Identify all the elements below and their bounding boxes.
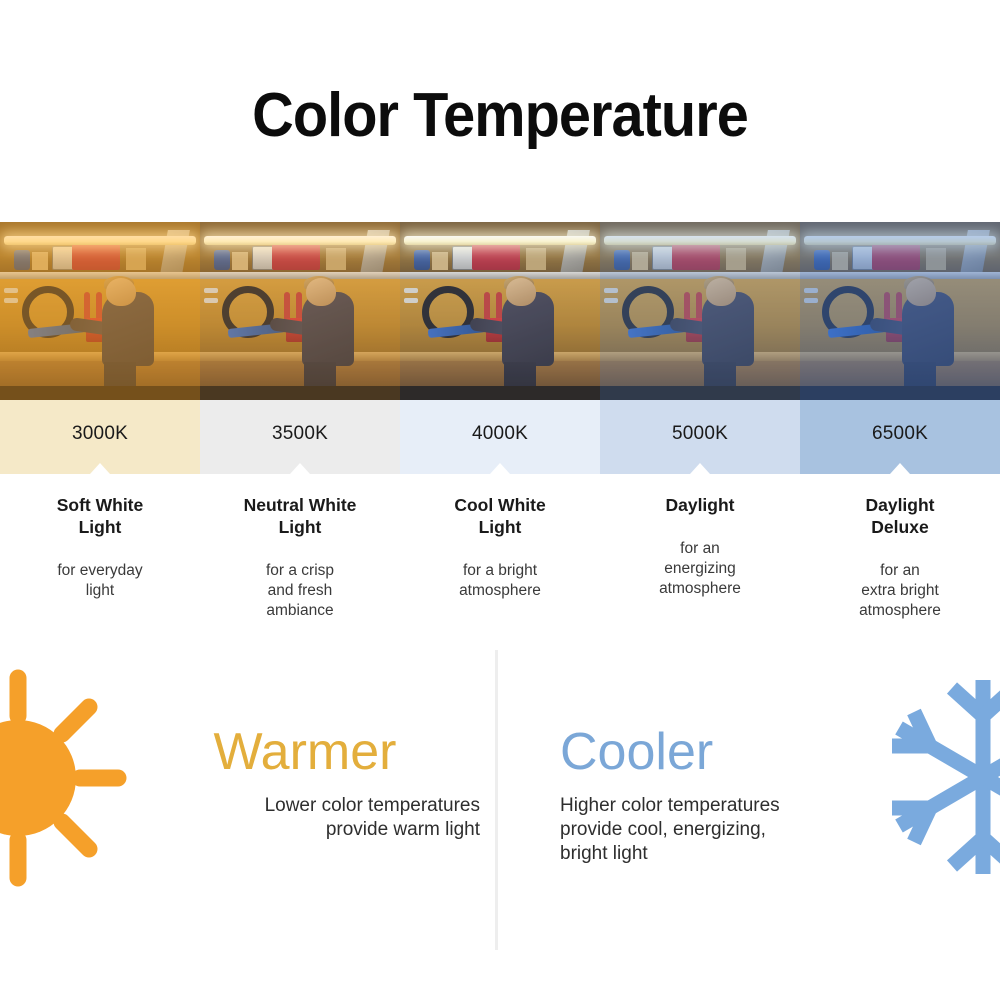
color-temperature-tint: [600, 222, 800, 400]
light-type-name: Neutral WhiteLight: [210, 495, 390, 539]
cooler-heading: Cooler: [560, 725, 910, 780]
kelvin-swatch-5000K[interactable]: 5000K: [600, 400, 800, 474]
warmer-description-line1: Lower color temperatures: [265, 795, 480, 816]
swatch-notch: [90, 463, 110, 474]
swatch-notch: [290, 463, 310, 474]
photo-cell-4000K: [400, 222, 600, 400]
photo-cell-3000K: [0, 222, 200, 400]
page-title: Color Temperature: [35, 80, 965, 151]
description-cell-5000K: Daylight for anenergizingatmosphere: [600, 495, 800, 621]
photo-strip: [0, 222, 1000, 400]
color-temperature-tint: [800, 222, 1000, 400]
kelvin-swatch-3500K[interactable]: 3500K: [200, 400, 400, 474]
photo-cell-5000K: [600, 222, 800, 400]
swatch-notch: [890, 463, 910, 474]
photo-cell-3500K: [200, 222, 400, 400]
kelvin-label: 6500K: [872, 423, 928, 445]
light-type-name: Soft WhiteLight: [10, 495, 190, 539]
color-temperature-tint: [400, 222, 600, 400]
warmer-block: Warmer Lower color temperatures provide …: [130, 725, 480, 842]
cooler-description: Higher color temperatures provide cool, …: [560, 794, 910, 867]
kelvin-swatch-6500K[interactable]: 6500K: [800, 400, 1000, 474]
cooler-description-line1: Higher color temperatures: [560, 795, 780, 816]
light-type-description: for everydaylight: [10, 561, 190, 601]
description-cell-6500K: DaylightDeluxe for anextra brightatmosph…: [800, 495, 1000, 621]
light-type-name: Daylight: [610, 495, 790, 517]
warmer-description: Lower color temperatures provide warm li…: [130, 794, 480, 843]
cooler-block: Cooler Higher color temperatures provide…: [560, 725, 910, 867]
light-type-name: DaylightDeluxe: [810, 495, 990, 539]
light-type-description: for anenergizingatmosphere: [610, 539, 790, 599]
warmer-description-line2: provide warm light: [326, 819, 480, 840]
photo-cell-6500K: [800, 222, 1000, 400]
light-type-description: for anextra brightatmosphere: [810, 561, 990, 621]
kelvin-swatch-3000K[interactable]: 3000K: [0, 400, 200, 474]
cooler-description-line3: bright light: [560, 843, 648, 864]
light-type-name: Cool WhiteLight: [410, 495, 590, 539]
kelvin-label: 4000K: [472, 423, 528, 445]
kelvin-swatch-row: 3000K 3500K 4000K 5000K 6500K: [0, 400, 1000, 474]
warmer-heading: Warmer: [130, 725, 480, 780]
light-type-description: for a crispand freshambiance: [210, 561, 390, 621]
light-type-description: for a brightatmosphere: [410, 561, 590, 601]
kelvin-label: 3000K: [72, 423, 128, 445]
description-cell-4000K: Cool WhiteLight for a brightatmosphere: [400, 495, 600, 621]
section-divider: [495, 650, 498, 950]
description-cell-3500K: Neutral WhiteLight for a crispand fresha…: [200, 495, 400, 621]
color-temperature-tint: [0, 222, 200, 400]
swatch-notch: [490, 463, 510, 474]
infographic-page: Color Temperature: [0, 0, 1000, 1000]
description-cell-3000K: Soft WhiteLight for everydaylight: [0, 495, 200, 621]
kelvin-label: 5000K: [672, 423, 728, 445]
description-row: Soft WhiteLight for everydaylight Neutra…: [0, 495, 1000, 621]
kelvin-swatch-4000K[interactable]: 4000K: [400, 400, 600, 474]
kelvin-label: 3500K: [272, 423, 328, 445]
sun-icon: [0, 668, 128, 888]
cooler-description-line2: provide cool, energizing,: [560, 819, 766, 840]
swatch-notch: [690, 463, 710, 474]
color-temperature-tint: [200, 222, 400, 400]
